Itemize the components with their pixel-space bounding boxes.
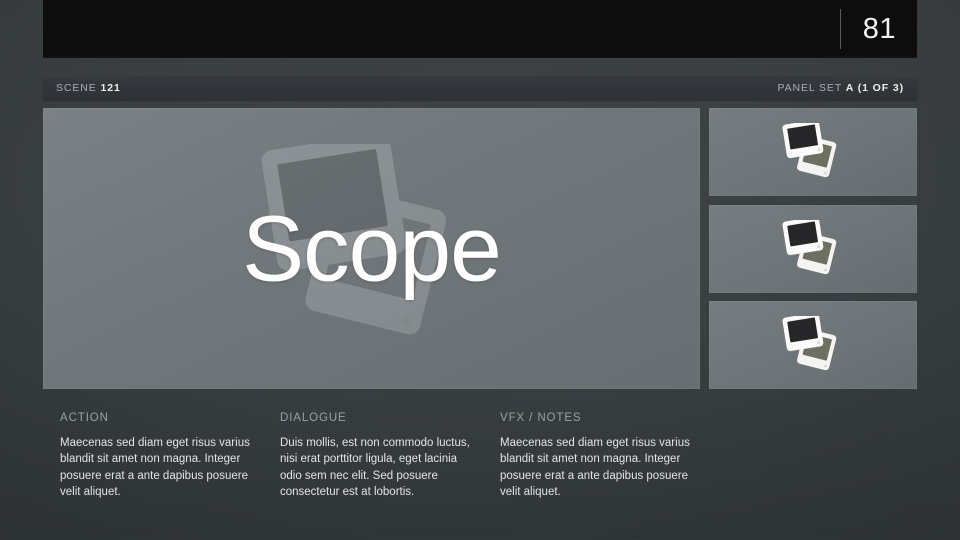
panel-set-value: A (1 OF 3) (846, 82, 904, 94)
photo-stack-icon (777, 220, 849, 278)
top-bar: 81 (43, 0, 917, 58)
scene-label: SCENE (56, 82, 97, 94)
notes-column-action: ACTION Maecenas sed diam eget risus vari… (60, 412, 280, 500)
panel-grid: Scope (43, 108, 917, 389)
scene-indicator: SCENE 121 (56, 82, 121, 94)
notes-column-vfx-notes: VFX / NOTES Maecenas sed diam eget risus… (500, 412, 720, 500)
main-panel[interactable]: Scope (43, 108, 700, 389)
thumbnail-panel[interactable] (709, 205, 917, 293)
scene-value: 121 (101, 82, 121, 94)
panel-set-indicator: PANEL SET A (1 OF 3) (777, 82, 904, 94)
storyboard-page: 81 SCENE 121 PANEL SET A (1 OF 3) (0, 0, 960, 540)
top-bar-right-group: 81 (840, 6, 917, 52)
column-heading: VFX / NOTES (500, 412, 692, 424)
thumbnail-panel[interactable] (709, 108, 917, 196)
vertical-rule-icon (840, 9, 841, 49)
page-number: 81 (863, 15, 896, 44)
panel-set-label: PANEL SET (777, 82, 842, 94)
column-body[interactable]: Duis mollis, est non commodo luctus, nis… (280, 435, 472, 500)
photo-stack-icon (777, 123, 849, 181)
notes-column-dialogue: DIALOGUE Duis mollis, est non commodo lu… (280, 412, 500, 500)
column-body[interactable]: Maecenas sed diam eget risus varius blan… (60, 435, 252, 500)
column-body[interactable]: Maecenas sed diam eget risus varius blan… (500, 435, 692, 500)
thumbnail-column (709, 108, 917, 389)
photo-stack-icon (777, 316, 849, 374)
column-heading: DIALOGUE (280, 412, 472, 424)
notes-columns: ACTION Maecenas sed diam eget risus vari… (60, 412, 720, 500)
scene-metadata-bar: SCENE 121 PANEL SET A (1 OF 3) (43, 75, 917, 100)
panel-gutter (700, 108, 709, 389)
column-heading: ACTION (60, 412, 252, 424)
panel-title: Scope (43, 202, 700, 295)
thumbnail-panel[interactable] (709, 301, 917, 389)
